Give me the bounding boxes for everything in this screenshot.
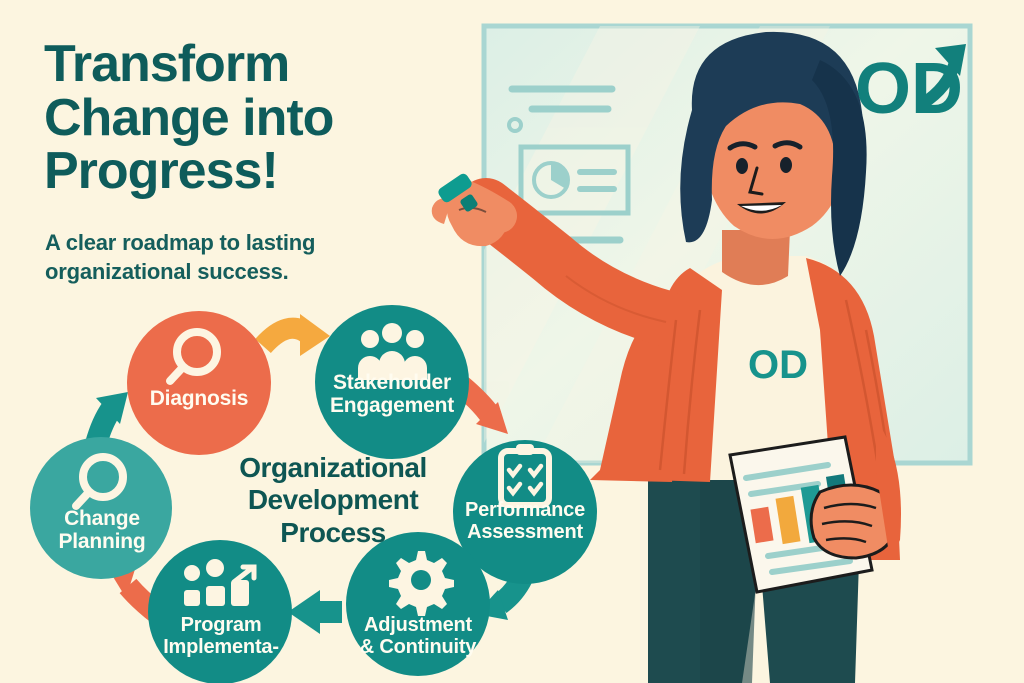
page-subtitle: A clear roadmap to lasting organizationa…: [45, 228, 405, 287]
process-center-title: Organizational Development Process: [198, 452, 468, 549]
headline-line-3: Progress!: [44, 145, 434, 199]
node-diagnosis: [127, 311, 271, 455]
headline-line-1: Transform: [44, 38, 434, 92]
center-title-line-3: Process: [198, 517, 468, 549]
center-title-line-1: Organizational: [198, 452, 468, 484]
node-stakeholder: [315, 305, 469, 459]
node-program: [148, 540, 292, 683]
od-logo: OD: [855, 44, 966, 129]
poster-canvas: OD: [0, 0, 1024, 683]
gear-icon: [389, 551, 454, 616]
node-adjustment: [346, 532, 490, 676]
node-change-planning: [30, 437, 172, 579]
page-title: Transform Change into Progress!: [44, 38, 434, 199]
center-title-line-2: Development: [198, 484, 468, 516]
shirt-logo-text: OD: [748, 343, 808, 387]
headline-line-2: Change into: [44, 92, 434, 146]
subheadline-line-2: organizational success.: [45, 257, 405, 286]
subheadline-line-1: A clear roadmap to lasting: [45, 228, 405, 257]
